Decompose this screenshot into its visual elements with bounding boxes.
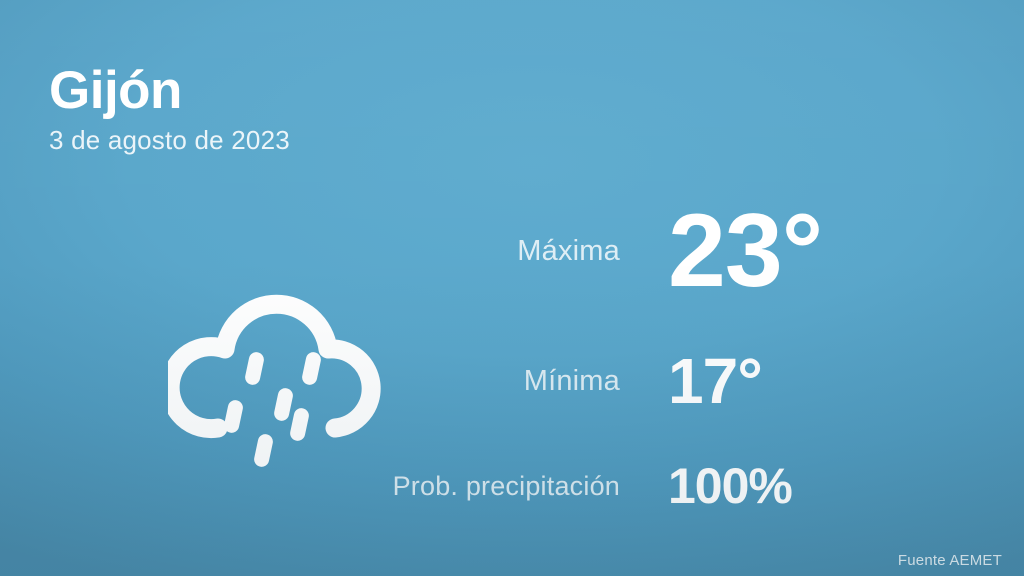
weather-card: Gijón 3 de agosto de 2023 Máxima 23° Mín… xyxy=(0,0,1024,576)
reading-label: Mínima xyxy=(0,365,668,398)
source-attribution: Fuente AEMET xyxy=(898,552,1002,569)
reading-row-minima: Mínima 17° xyxy=(0,326,1024,436)
reading-value-maxima: 23° xyxy=(668,199,822,303)
reading-value-minima: 17° xyxy=(668,349,762,413)
forecast-date: 3 de agosto de 2023 xyxy=(49,125,290,156)
reading-value-precipitacion: 100% xyxy=(668,461,792,511)
readings-list: Máxima 23° Mínima 17° Prob. precipitació… xyxy=(0,176,1024,536)
reading-row-maxima: Máxima 23° xyxy=(0,176,1024,326)
page-title: Gijón xyxy=(49,62,290,119)
reading-row-precipitacion: Prob. precipitación 100% xyxy=(0,436,1024,536)
header: Gijón 3 de agosto de 2023 xyxy=(49,62,290,156)
reading-label: Prob. precipitación xyxy=(0,471,668,502)
reading-label: Máxima xyxy=(0,235,668,268)
